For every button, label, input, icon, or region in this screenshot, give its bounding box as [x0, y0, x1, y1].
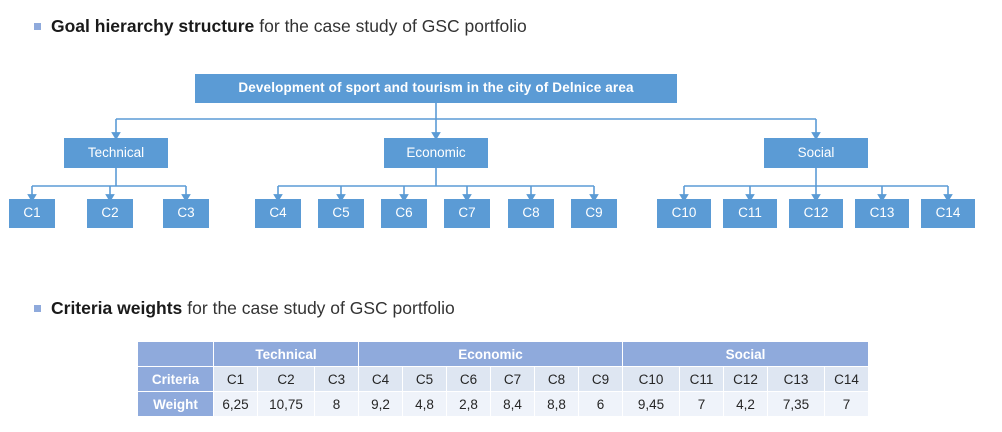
table-row-label-weight: Weight	[138, 392, 214, 417]
tree-leaf-c3[interactable]: C3	[163, 199, 209, 228]
table-cell-weight-c11: 7	[680, 392, 724, 417]
table-cell-weight-c9: 6	[579, 392, 623, 417]
table-cell-weight-c1: 6,25	[214, 392, 258, 417]
table-cell-weight-c6: 2,8	[447, 392, 491, 417]
bullet-square-icon	[34, 305, 41, 312]
tree-leaf-c1[interactable]: C1	[9, 199, 55, 228]
table-group-economic: Economic	[359, 342, 623, 367]
goal-hierarchy-tree: Development of sport and tourism in the …	[0, 0, 1002, 290]
criteria-weights-table: Technical Economic Social Criteria C1 C2…	[137, 341, 869, 417]
table-cell-criteria-c12: C12	[724, 367, 768, 392]
tree-leaf-c8[interactable]: C8	[508, 199, 554, 228]
tree-leaf-c6[interactable]: C6	[381, 199, 427, 228]
tree-node-root[interactable]: Development of sport and tourism in the …	[195, 74, 677, 103]
table-cell-weight-c10: 9,45	[623, 392, 680, 417]
table-cell-criteria-c1: C1	[214, 367, 258, 392]
table-cell-criteria-c13: C13	[768, 367, 825, 392]
table-cell-criteria-c10: C10	[623, 367, 680, 392]
tree-leaf-c14[interactable]: C14	[921, 199, 975, 228]
heading-weights-rest: for the case study of GSC portfolio	[187, 300, 455, 318]
tree-leaf-c13[interactable]: C13	[855, 199, 909, 228]
tree-leaf-c11[interactable]: C11	[723, 199, 777, 228]
tree-leaf-c2[interactable]: C2	[87, 199, 133, 228]
tree-node-social[interactable]: Social	[764, 138, 868, 168]
table-cell-weight-c14: 7	[825, 392, 869, 417]
tree-leaf-c10[interactable]: C10	[657, 199, 711, 228]
table-group-technical: Technical	[214, 342, 359, 367]
table-cell-weight-c12: 4,2	[724, 392, 768, 417]
table-cell-weight-c5: 4,8	[403, 392, 447, 417]
tree-node-technical[interactable]: Technical	[64, 138, 168, 168]
table-cell-weight-c4: 9,2	[359, 392, 403, 417]
table-group-header-row: Technical Economic Social	[138, 342, 869, 367]
table-cell-criteria-c6: C6	[447, 367, 491, 392]
table-cell-criteria-c8: C8	[535, 367, 579, 392]
table-corner-blank	[138, 342, 214, 367]
table-cell-criteria-c4: C4	[359, 367, 403, 392]
tree-leaf-c12[interactable]: C12	[789, 199, 843, 228]
heading-criteria-weights: Criteria weights for the case study of G…	[34, 300, 455, 318]
table-cell-criteria-c14: C14	[825, 367, 869, 392]
table-cell-criteria-c11: C11	[680, 367, 724, 392]
table-cell-criteria-c2: C2	[258, 367, 315, 392]
table-cell-weight-c2: 10,75	[258, 392, 315, 417]
tree-leaf-c4[interactable]: C4	[255, 199, 301, 228]
table-cell-weight-c3: 8	[315, 392, 359, 417]
table-row-criteria: Criteria C1 C2 C3 C4 C5 C6 C7 C8 C9 C10 …	[138, 367, 869, 392]
table-row-weight: Weight 6,25 10,75 8 9,2 4,8 2,8 8,4 8,8 …	[138, 392, 869, 417]
tree-leaf-c5[interactable]: C5	[318, 199, 364, 228]
table-row-label-criteria: Criteria	[138, 367, 214, 392]
table-cell-criteria-c7: C7	[491, 367, 535, 392]
table-cell-weight-c13: 7,35	[768, 392, 825, 417]
heading-weights-bold: Criteria weights	[51, 300, 182, 318]
table-cell-weight-c8: 8,8	[535, 392, 579, 417]
table-cell-weight-c7: 8,4	[491, 392, 535, 417]
tree-leaf-c7[interactable]: C7	[444, 199, 490, 228]
tree-leaf-c9[interactable]: C9	[571, 199, 617, 228]
table-group-social: Social	[623, 342, 869, 367]
table-cell-criteria-c3: C3	[315, 367, 359, 392]
table-cell-criteria-c5: C5	[403, 367, 447, 392]
tree-node-economic[interactable]: Economic	[384, 138, 488, 168]
table-cell-criteria-c9: C9	[579, 367, 623, 392]
